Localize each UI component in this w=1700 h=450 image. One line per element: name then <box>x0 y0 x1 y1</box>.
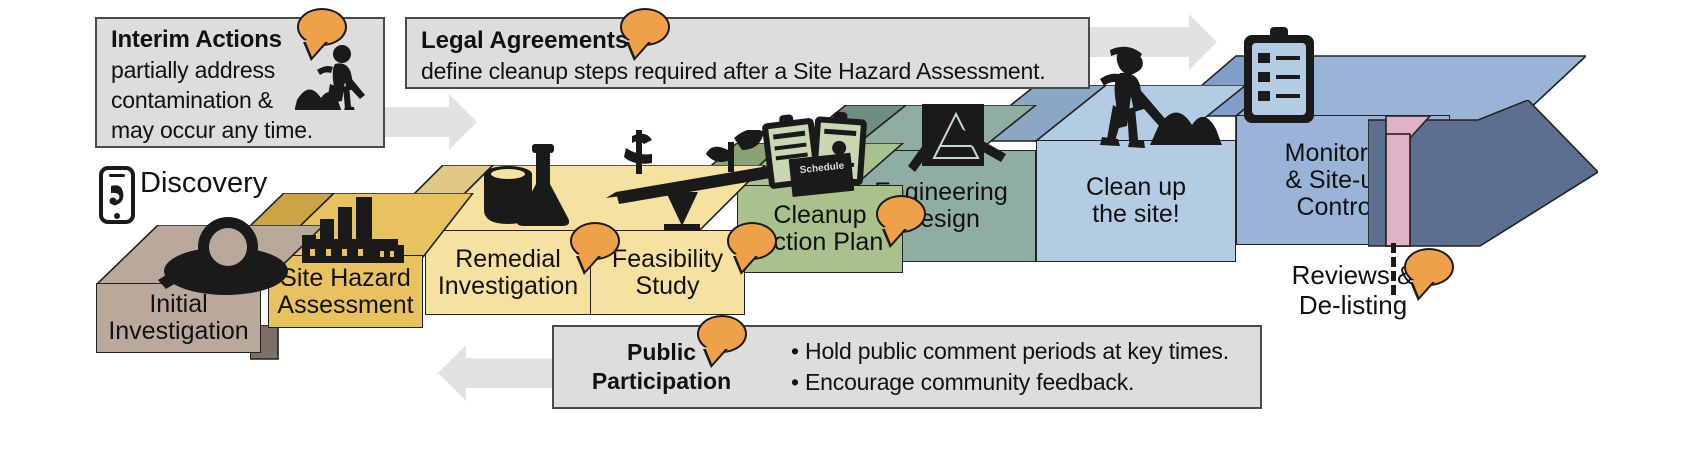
speech-bubble-icon <box>570 222 620 260</box>
step-face: Clean upthe site! <box>1036 140 1236 262</box>
interim-actions-line2: contamination & <box>111 85 373 115</box>
step-clean-up-the-site[interactable]: Clean upthe site! <box>1036 140 1236 262</box>
public-participation-bullet-1: • Hold public comment periods at key tim… <box>791 336 1260 367</box>
speech-bubble-icon <box>297 8 347 46</box>
step-label: Monitoring & Site-use Controls <box>1281 140 1406 221</box>
discovery-label: Discovery <box>140 168 267 199</box>
speech-bubble-icon <box>697 315 747 353</box>
reviews-delisting-label: Reviews &De-listing <box>1283 260 1423 320</box>
legal-agreements-callout: Legal Agreements define cleanup steps re… <box>405 17 1090 89</box>
public-participation-callout: PublicParticipation • Hold public commen… <box>552 325 1262 409</box>
step-label: InitialInvestigation <box>104 291 252 345</box>
step-initial-top <box>96 225 376 287</box>
step-monitoring-site-use-controls[interactable]: Monitoring & Site-use Controls <box>1236 115 1450 245</box>
speech-bubble-icon <box>620 8 670 46</box>
public-participation-bullets: • Hold public comment periods at key tim… <box>769 336 1260 398</box>
step-initial-investigation[interactable]: InitialInvestigation <box>96 283 261 353</box>
speech-bubble-icon <box>876 195 926 233</box>
interim-actions-line3: may occur any time. <box>111 115 373 145</box>
interim-actions-line1: partially address <box>111 55 373 85</box>
speech-bubble-icon <box>1404 248 1454 286</box>
legal-agreements-title: Legal Agreements <box>421 26 1088 56</box>
step-face: Monitoring & Site-use Controls <box>1236 115 1450 245</box>
public-participation-bullet-2: • Encourage community feedback. <box>791 367 1260 398</box>
step-label: FeasibilityStudy <box>608 246 727 300</box>
smartphone-icon <box>98 166 138 224</box>
legal-agreements-body: define cleanup steps required after a Si… <box>421 56 1088 86</box>
cleanup-process-diagram: Monitoring & Site-use Controls Clean upt… <box>0 0 1700 450</box>
step-label: Clean upthe site! <box>1082 174 1190 228</box>
speech-bubble-icon <box>727 222 777 260</box>
step-face: InitialInvestigation <box>96 283 261 353</box>
